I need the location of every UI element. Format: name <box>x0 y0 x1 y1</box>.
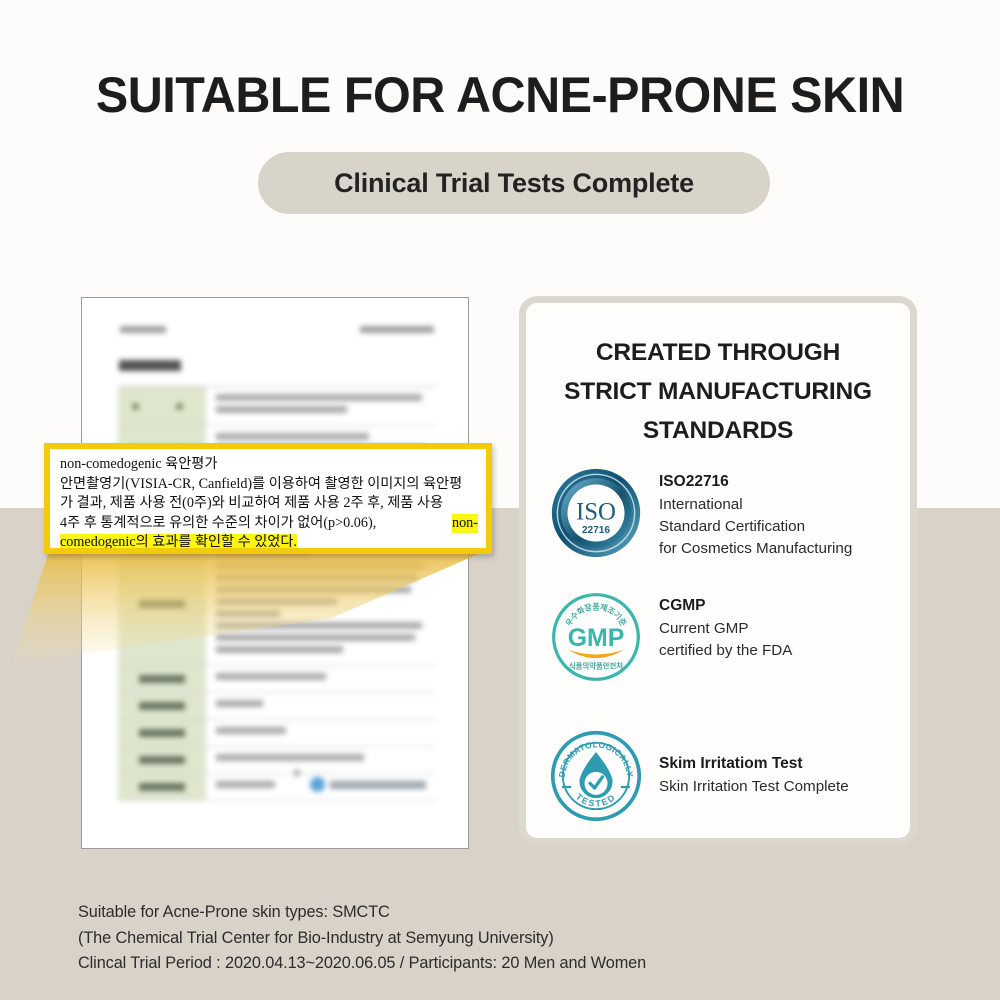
certification-desc-line: Standard Certification <box>659 516 852 538</box>
document-logo-text <box>330 781 426 789</box>
table-cell-mark <box>118 387 152 425</box>
certification-desc-line: International <box>659 494 852 516</box>
table-cell-label <box>118 747 206 773</box>
callout-line-2: 안면촬영기(VISIA-CR, Canfield)를 이용하여 촬영한 이미지의… <box>60 475 478 495</box>
infographic-page: SUITABLE FOR ACNE-PRONE SKIN Clinical Tr… <box>0 0 1000 1000</box>
clinical-report-document <box>81 297 469 849</box>
card-title-line-1: CREATED THROUGH <box>526 333 910 372</box>
table-cell-label <box>118 543 206 665</box>
callout-line-5: comedogenic의 효과를 확인할 수 있었다. <box>60 533 478 553</box>
clinical-trial-pill-label: Clinical Trial Tests Complete <box>334 168 694 199</box>
table-row <box>118 666 436 693</box>
certification-desc-line: for Cosmetics Manufacturing <box>659 538 852 560</box>
table-cell-text <box>206 666 436 692</box>
certification-text-dermatologically-tested: Skim Irritatiom Test Skin Irritation Tes… <box>659 753 849 798</box>
footer-line-2: (The Chemical Trial Center for Bio-Indus… <box>78 926 928 952</box>
table-cell-label <box>118 774 206 800</box>
certification-list: CERTIFIED ISO 22716 ISO22716 Internation… <box>526 465 910 837</box>
certification-name: ISO22716 <box>659 471 852 493</box>
document-section-heading <box>119 360 181 371</box>
svg-text:ISO: ISO <box>576 498 616 525</box>
callout-line-4-highlight: non- <box>452 514 478 534</box>
card-title-line-2: STRICT MANUFACTURING <box>526 372 910 411</box>
callout-box: non-comedogenic 육안평가 안면촬영기(VISIA-CR, Can… <box>44 443 492 554</box>
table-cell-text <box>206 693 436 719</box>
card-title-line-3: STANDARDS <box>526 411 910 450</box>
document-logo <box>310 777 426 792</box>
table-cell-mark <box>152 387 206 425</box>
document-footnote-mark <box>294 770 300 776</box>
callout-line-4: 4주 후 통계적으로 유의한 수준의 차이가 없어(p>0.06), non- <box>60 514 478 534</box>
table-cell-label <box>118 693 206 719</box>
table-cell-label <box>118 666 206 692</box>
table-cell-text <box>206 387 436 425</box>
iso-22716-badge-icon: CERTIFIED ISO 22716 <box>550 467 642 559</box>
document-header-left <box>120 326 166 333</box>
table-cell-text <box>206 720 436 746</box>
document-logo-icon <box>310 777 325 792</box>
certification-text-cgmp: CGMP Current GMP certified by the FDA <box>659 589 792 662</box>
footer-line-1: Suitable for Acne-Prone skin types: SMCT… <box>78 900 928 926</box>
callout-line-3: 가 결과, 제품 사용 전(0주)와 비교하여 제품 사용 2주 후, 제품 사… <box>60 494 478 514</box>
table-row <box>118 693 436 720</box>
page-title: SUITABLE FOR ACNE-PRONE SKIN <box>15 66 985 124</box>
footer-note: Suitable for Acne-Prone skin types: SMCT… <box>78 900 928 977</box>
certification-item-dermatologically-tested: DERMATOLOGICALLY TESTED Skim Irritatiom … <box>526 713 910 837</box>
svg-text:식품의약품안전처: 식품의약품안전처 <box>569 661 623 670</box>
callout-line-5-highlight: comedogenic의 효과를 확인할 수 있었다. <box>60 534 297 550</box>
callout-line-4-text: 4주 후 통계적으로 유의한 수준의 차이가 없어(p>0.06), <box>60 514 376 534</box>
svg-text:22716: 22716 <box>582 525 610 536</box>
table-cell-label <box>118 720 206 746</box>
callout-line-1: non-comedogenic 육안평가 <box>60 455 478 475</box>
svg-text:GMP: GMP <box>568 625 625 652</box>
document-scan-content <box>82 298 468 848</box>
dermatologically-tested-badge-icon: DERMATOLOGICALLY TESTED <box>550 730 642 822</box>
table-row <box>118 747 436 774</box>
certification-name: Skim Irritatiom Test <box>659 753 849 775</box>
certification-name: CGMP <box>659 595 792 617</box>
certification-text-iso: ISO22716 International Standard Certific… <box>659 465 852 560</box>
certification-item-iso: CERTIFIED ISO 22716 ISO22716 Internation… <box>526 465 910 589</box>
table-row <box>118 543 436 666</box>
certification-desc-line: Skin Irritation Test Complete <box>659 776 849 798</box>
card-title: CREATED THROUGH STRICT MANUFACTURING STA… <box>526 333 910 450</box>
table-cell-text <box>206 747 436 773</box>
table-row <box>118 720 436 747</box>
manufacturing-standards-card: CREATED THROUGH STRICT MANUFACTURING STA… <box>519 296 917 845</box>
cgmp-badge-icon: 우수화장품제조기준 GMP 식품의약품안전처 <box>550 591 642 683</box>
footer-line-3: Clincal Trial Period : 2020.04.13~2020.0… <box>78 951 928 977</box>
certification-desc-line: Current GMP <box>659 618 792 640</box>
certification-item-cgmp: 우수화장품제조기준 GMP 식품의약품안전처 CGMP Current GMP … <box>526 589 910 713</box>
table-cell-text <box>206 543 436 665</box>
document-header-right <box>360 326 434 333</box>
certification-desc-line: certified by the FDA <box>659 640 792 662</box>
table-row <box>118 387 436 426</box>
clinical-trial-pill: Clinical Trial Tests Complete <box>258 152 770 214</box>
